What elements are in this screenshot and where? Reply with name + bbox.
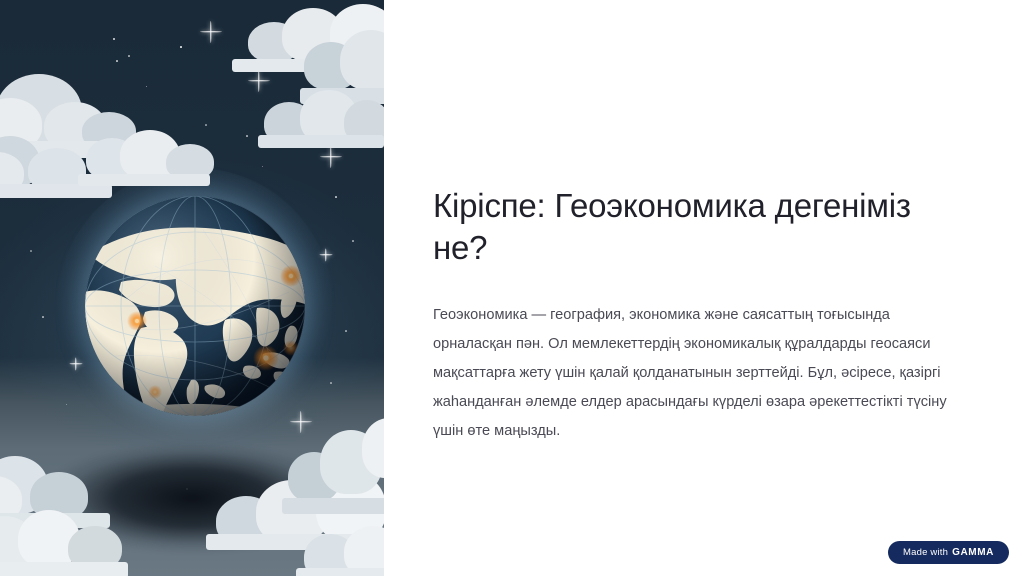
globe-svg <box>85 196 305 416</box>
slide: Кіріспе: Геоэкономика дегеніміз не? Геоэ… <box>0 0 1024 576</box>
badge-brand-label: GAMMA <box>952 547 994 558</box>
page-title: Кіріспе: Геоэкономика дегеніміз не? <box>433 185 943 269</box>
made-with-gamma-badge[interactable]: Made with GAMMA <box>888 541 1009 564</box>
body-paragraph: Геоэкономика — география, экономика және… <box>433 301 968 446</box>
earth-globe-icon <box>85 196 305 416</box>
content-panel: Кіріспе: Геоэкономика дегеніміз не? Геоэ… <box>384 0 1024 576</box>
cloud-icon <box>258 86 384 148</box>
cloud-icon <box>78 128 224 186</box>
globe-sphere <box>85 196 305 416</box>
cloud-icon <box>282 418 384 514</box>
cloud-icon <box>0 508 136 576</box>
illustration-panel <box>0 0 384 576</box>
cloud-icon <box>296 524 384 576</box>
badge-prefix-label: Made with <box>903 547 948 558</box>
